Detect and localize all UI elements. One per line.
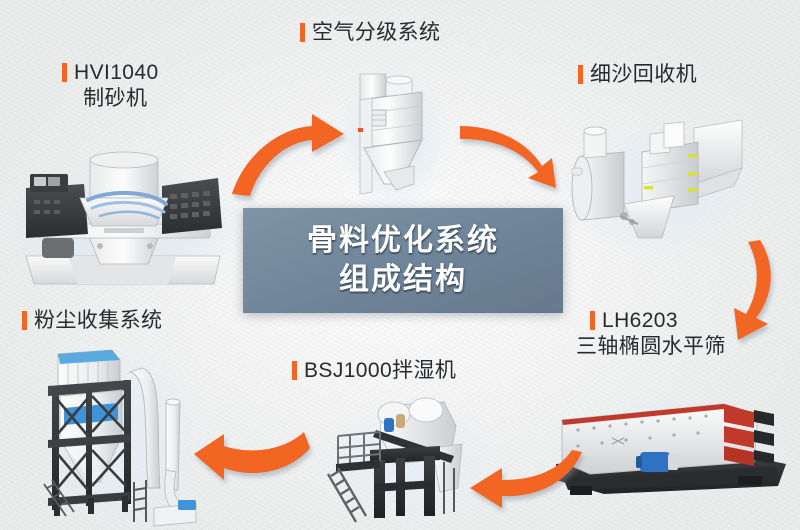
machine-image-dust-collector <box>38 340 204 530</box>
label-horizontal-screen: LH6203 三轴椭圆水平筛 <box>590 308 726 359</box>
orange-bar-marker-icon <box>292 361 297 380</box>
orange-bar-marker-icon <box>22 311 27 330</box>
center-title-text: 骨料优化系统 组成结构 <box>307 222 499 298</box>
machine-image-horizontal-screen <box>548 390 796 520</box>
arrow-screen-to-mixer <box>458 448 584 526</box>
label-air-classifier: 空气分级系统 <box>300 20 440 46</box>
aggregate-optimization-flow-diagram: 骨料优化系统 组成结构 HVI1040 制砂机 空气分级系统 细沙回收机 LH6… <box>0 0 800 530</box>
label-air-classifier-line1: 空气分级系统 <box>300 20 440 46</box>
center-title-line2: 组成结构 <box>307 261 499 299</box>
orange-bar-marker-icon <box>578 65 583 84</box>
machine-image-air-classifier <box>338 62 448 212</box>
label-horizontal-screen-line2: 三轴椭圆水平筛 <box>576 334 726 360</box>
label-wet-mixer-line1: BSJ1000拌湿机 <box>292 358 456 384</box>
label-dust-collector: 粉尘收集系统 <box>22 308 162 334</box>
label-horizontal-screen-line1: LH6203 <box>590 308 726 334</box>
label-dust-collector-line1: 粉尘收集系统 <box>22 308 162 334</box>
label-sand-recycler: 细沙回收机 <box>578 62 697 88</box>
orange-bar-marker-icon <box>590 311 595 330</box>
label-sand-maker-line2: 制砂机 <box>62 86 159 112</box>
arrow-mixer-to-dustcollector <box>186 420 312 498</box>
arrow-classifier-to-recycler <box>458 106 576 190</box>
arrow-sandmaker-to-classifier <box>228 112 348 198</box>
orange-bar-marker-icon <box>300 23 305 42</box>
label-sand-maker-line1: HVI1040 <box>62 60 159 86</box>
orange-bar-marker-icon <box>62 63 67 82</box>
center-title-plate: 骨料优化系统 组成结构 <box>243 208 563 313</box>
label-sand-recycler-line1: 细沙回收机 <box>578 62 697 88</box>
machine-image-sand-maker <box>8 138 238 290</box>
center-title-line1: 骨料优化系统 <box>307 222 499 260</box>
label-wet-mixer: BSJ1000拌湿机 <box>292 358 456 384</box>
label-sand-maker: HVI1040 制砂机 <box>62 60 159 111</box>
arrow-recycler-to-screen <box>716 238 792 348</box>
